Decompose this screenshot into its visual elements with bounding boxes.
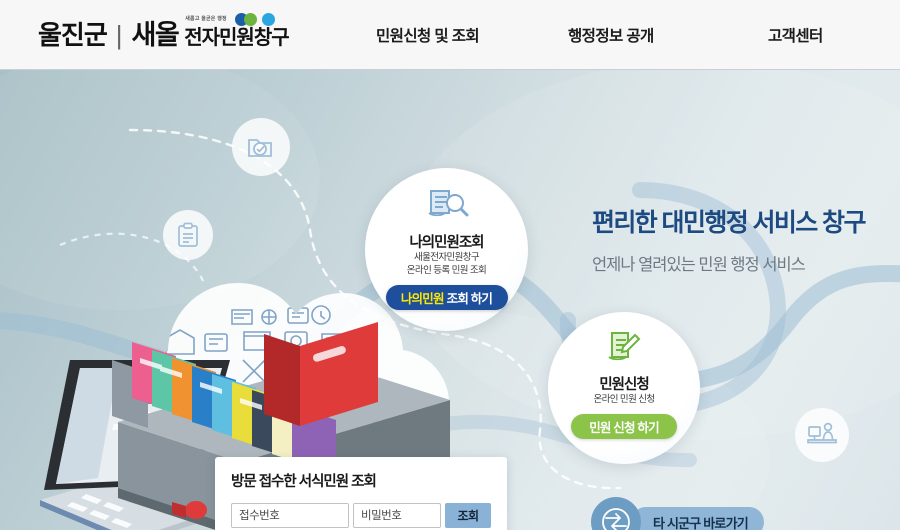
- document-pen-icon: [604, 330, 644, 369]
- button-highlight-text: 나의민원: [401, 288, 444, 307]
- hero-headline-group: 편리한 대민행정 서비스 창구 언제나 열려있는 민원 행정 서비스: [592, 203, 865, 275]
- exchange-arrows-icon: [591, 497, 641, 530]
- card-my-minwon-inquiry[interactable]: 나의민원조회 새울전자민원창구 온라인 등록 민원 조회 나의민원 조회 하기: [365, 168, 528, 331]
- hero-banner: 나의민원조회 새울전자민원창구 온라인 등록 민원 조회 나의민원 조회 하기 …: [0, 70, 900, 530]
- clipboard-icon: [163, 210, 213, 260]
- panel-title: 방문 접수한 서식민원 조회: [231, 470, 491, 491]
- folder-check-icon: [232, 118, 290, 176]
- main-navigation: 민원신청 및 조회 행정정보 공개 고객센터: [330, 0, 890, 70]
- site-logo[interactable]: 울진군 | 새올 새롭고 올곧은 행정 전자민원창구: [38, 12, 289, 58]
- page-root: 울진군 | 새올 새롭고 올곧은 행정 전자민원창구 민원신청 및 조회 행정정…: [0, 0, 900, 530]
- password-input[interactable]: [353, 503, 441, 528]
- logo-service-name: 전자민원창구: [184, 27, 288, 49]
- logo-county-name: 울진군: [38, 22, 107, 48]
- logo-brand-name: 새올: [132, 22, 179, 49]
- receipt-number-input[interactable]: [231, 503, 349, 528]
- panel-form-row: 조회: [231, 503, 491, 528]
- logo-brand-group: 새올 새롭고 올곧은 행정 전자민원창구: [132, 22, 289, 49]
- logo-divider: |: [116, 22, 123, 48]
- card-title: 나의민원조회: [409, 231, 483, 252]
- logo-tagline: 새롭고 올곧은 행정: [185, 15, 227, 22]
- card-subtitle-line1: 온라인 민원 신청: [593, 394, 654, 407]
- inquiry-submit-button[interactable]: 조회: [445, 503, 491, 528]
- other-region-label: 타 시군구 바로가기: [631, 507, 764, 530]
- logo-dots-icon: [235, 13, 295, 27]
- my-minwon-inquiry-button[interactable]: 나의민원 조회 하기: [386, 285, 508, 310]
- minwon-apply-button[interactable]: 민원 신청 하기: [571, 414, 677, 439]
- service-desk-icon: [795, 408, 849, 462]
- visit-receipt-inquiry-panel: 방문 접수한 서식민원 조회 조회: [215, 457, 507, 530]
- hero-headline: 편리한 대민행정 서비스 창구: [592, 203, 865, 239]
- site-header: 울진군 | 새올 새롭고 올곧은 행정 전자민원창구 민원신청 및 조회 행정정…: [0, 0, 900, 70]
- logo-service-group: 새롭고 올곧은 행정 전자민원창구: [184, 28, 288, 49]
- card-title: 민원신청: [599, 373, 648, 394]
- other-region-shortcut[interactable]: 타 시군구 바로가기: [591, 497, 764, 530]
- document-magnifier-icon: [425, 186, 469, 227]
- hero-subheadline: 언제나 열려있는 민원 행정 서비스: [592, 251, 865, 275]
- nav-item-customer-center[interactable]: 고객센터: [768, 0, 823, 70]
- card-minwon-apply[interactable]: 민원신청 온라인 민원 신청 민원 신청 하기: [548, 312, 700, 464]
- card-subtitle-line2: 온라인 등록 민원 조회: [407, 265, 486, 278]
- nav-item-admin-info-disclosure[interactable]: 행정정보 공개: [568, 0, 654, 70]
- nav-item-minwon-apply-inquiry[interactable]: 민원신청 및 조회: [376, 0, 479, 70]
- card-subtitle-line1: 새울전자민원창구: [414, 252, 479, 265]
- button-rest-text: 조회 하기: [447, 288, 492, 307]
